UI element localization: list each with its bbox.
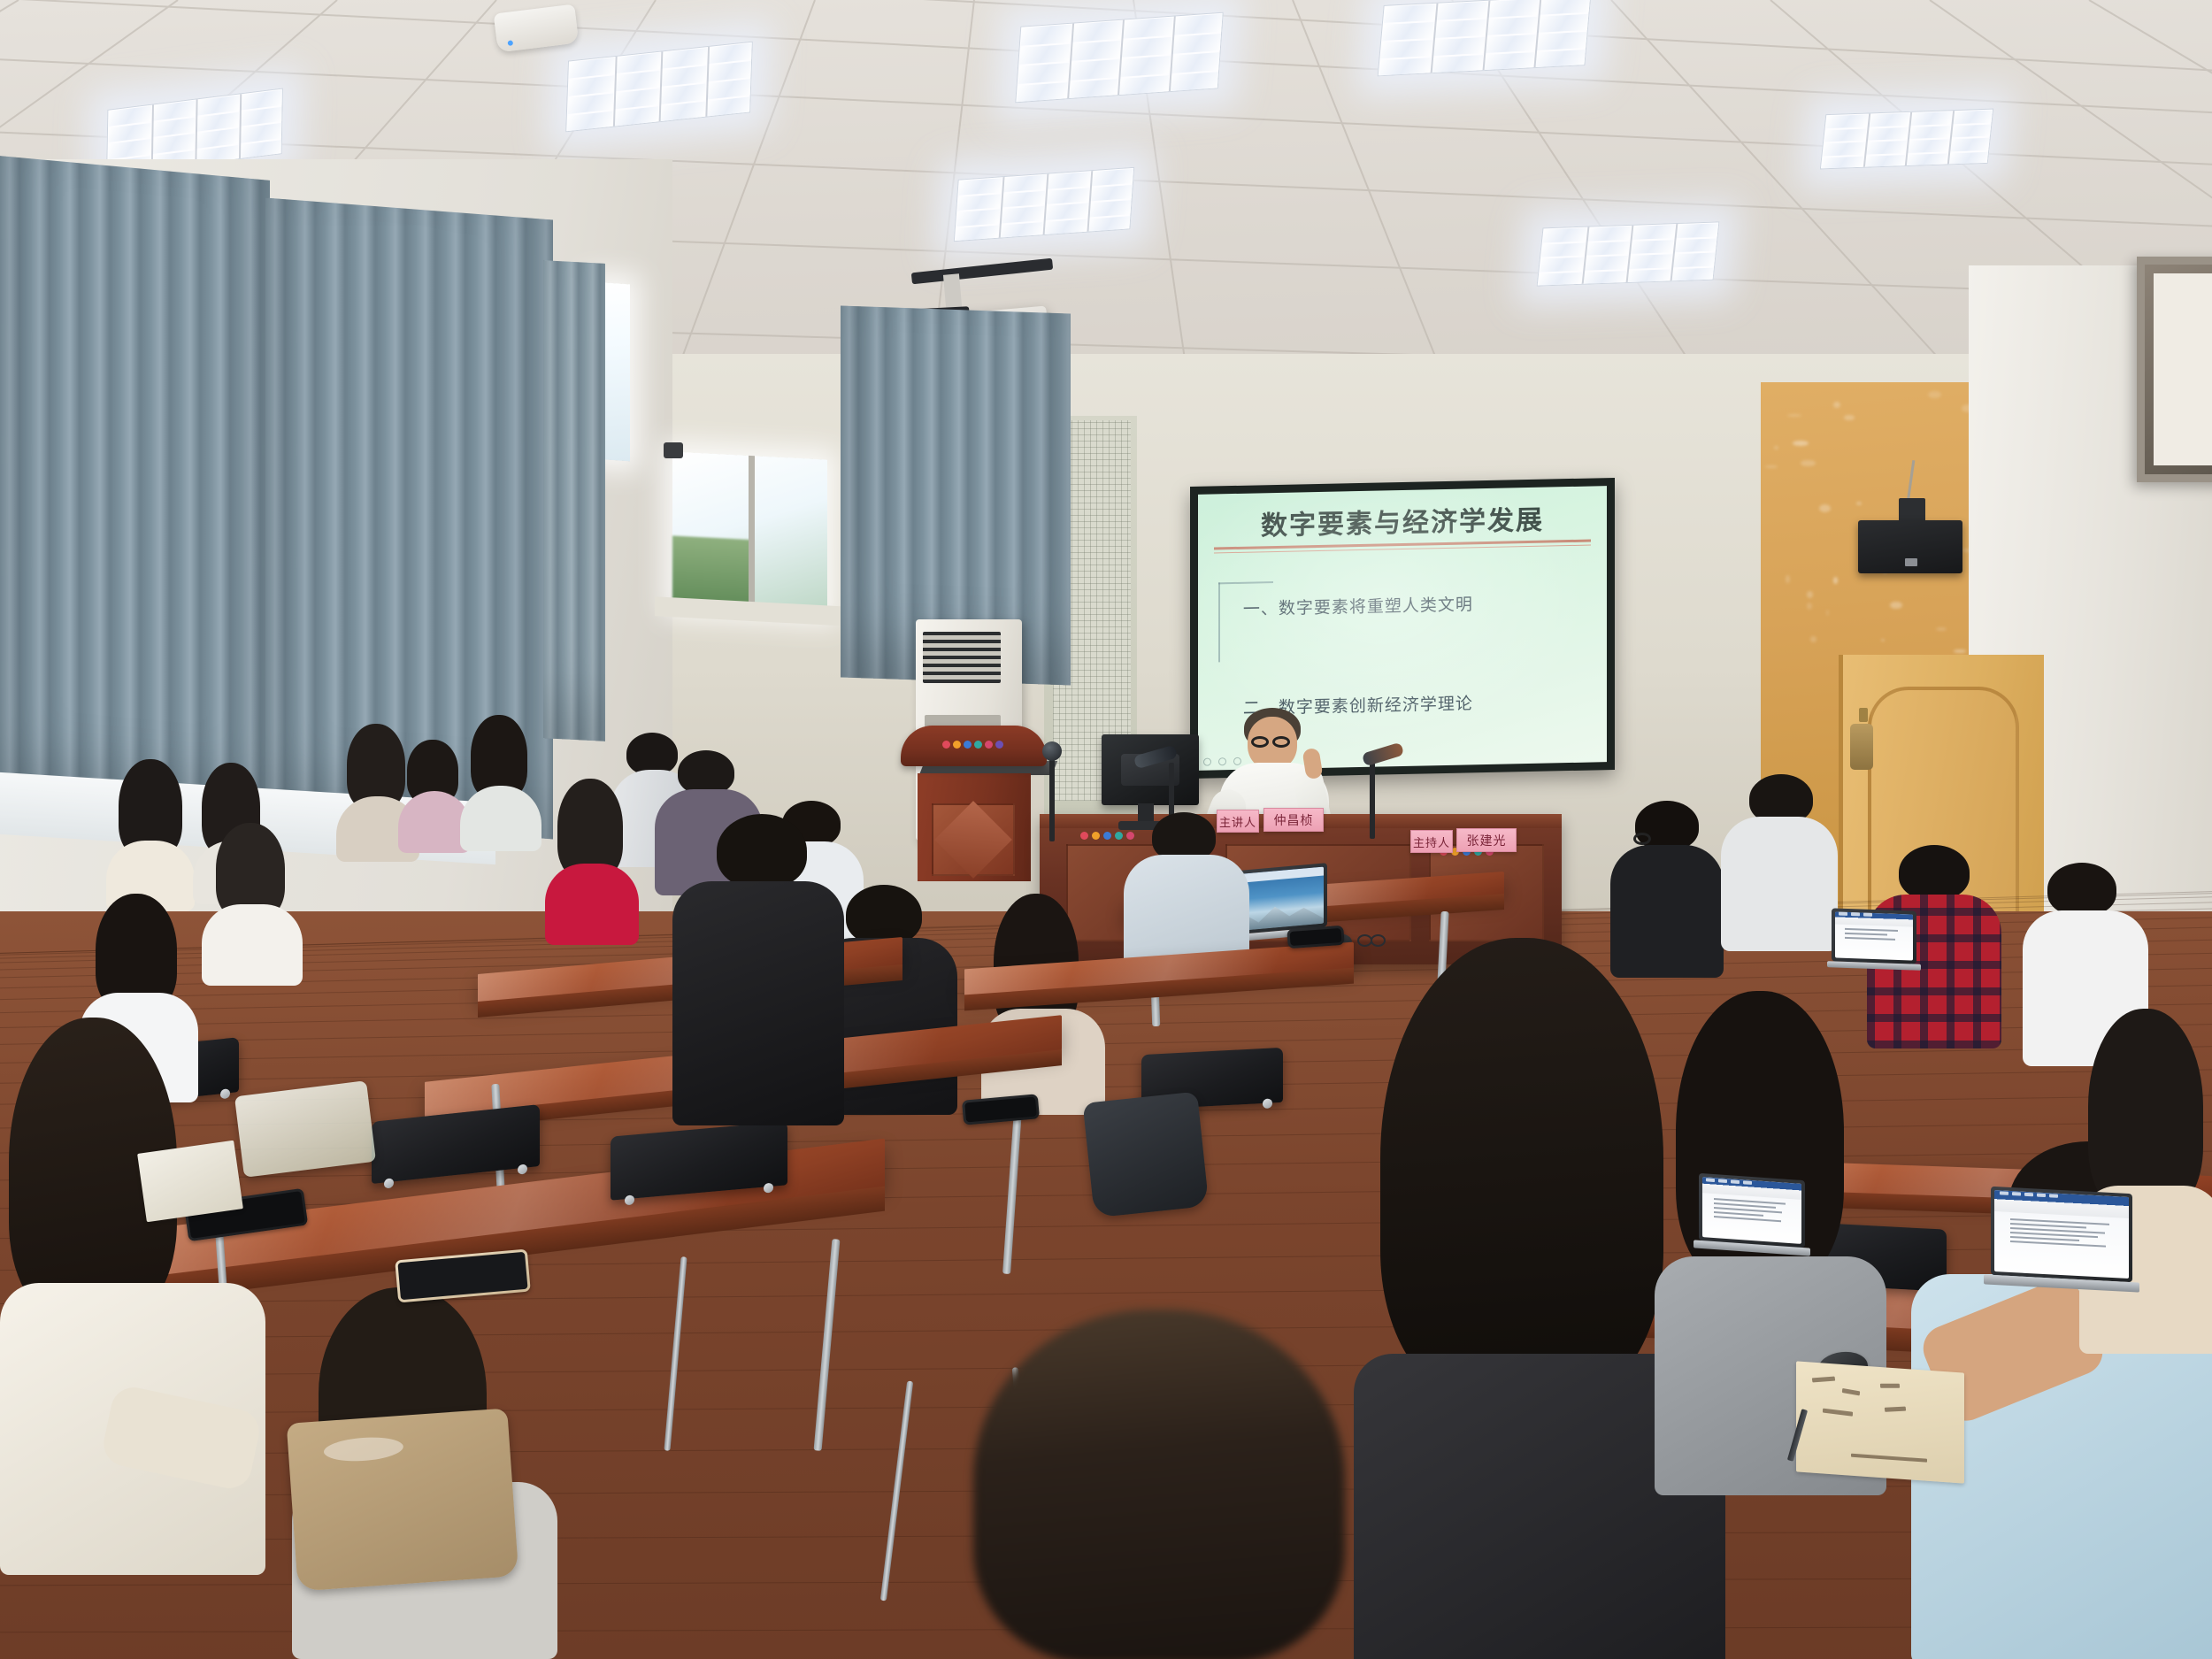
notebook xyxy=(137,1141,243,1223)
ceiling-light-3 xyxy=(1015,12,1223,104)
nameplate-name-1: 仲昌桢 xyxy=(1263,808,1324,832)
ceiling-light-4 xyxy=(1378,0,1592,76)
speaker-bracket xyxy=(1899,498,1925,522)
microphone-stand-right xyxy=(1370,763,1375,839)
audience-member-a3 xyxy=(202,823,299,982)
microphone-stand-podium xyxy=(1049,757,1055,841)
audience-member-a19 xyxy=(0,1018,265,1548)
audience-member-a20 xyxy=(2079,1009,2212,1345)
slide-title: 数字要素与经济学发展 xyxy=(1261,506,1544,541)
audience-member-a21 xyxy=(398,740,469,855)
curtain-left[interactable] xyxy=(0,156,270,826)
laptop-right-mid[interactable] xyxy=(1699,1173,1805,1248)
audience-member-a2 xyxy=(545,779,637,938)
audience-member-a13 xyxy=(1721,774,1836,951)
window-latch-icon[interactable] xyxy=(664,442,683,458)
ceiling-light-6 xyxy=(1537,221,1720,286)
ceiling-light-5 xyxy=(954,167,1134,242)
microphone-podium xyxy=(1042,741,1062,761)
audience-member-foreground xyxy=(973,1310,1345,1659)
audience-member-a8-front xyxy=(672,814,841,1124)
audience-member-a22 xyxy=(460,715,540,848)
phone-on-desk-3[interactable] xyxy=(1286,926,1344,949)
monitor xyxy=(1102,734,1199,805)
notepad xyxy=(1796,1361,1964,1483)
slide-bullet-1: 一、数字要素将重塑人类文明 xyxy=(1243,591,1473,619)
podium-logo xyxy=(942,741,1003,749)
classroom-scene: 数字要素与经济学发展 一、数字要素将重塑人类文明 二、数字要素创新经济学理论 xyxy=(0,0,2212,1659)
audience-member-a1 xyxy=(106,759,191,901)
handbag xyxy=(287,1409,519,1592)
window xyxy=(672,451,827,614)
podium xyxy=(901,726,1047,880)
laptop-right-far[interactable] xyxy=(1832,908,1916,964)
nameplate-role-2: 主持人 xyxy=(1410,830,1453,853)
wall-speaker-icon xyxy=(1858,520,1962,573)
plastic-bag xyxy=(234,1080,376,1178)
backpack xyxy=(1083,1092,1210,1218)
nameplate-name-2: 张建光 xyxy=(1456,828,1517,852)
curtain-edge[interactable] xyxy=(543,260,605,741)
door-handle-icon[interactable] xyxy=(1850,724,1873,770)
picture-frame xyxy=(2137,257,2212,482)
ceiling-light-8 xyxy=(1820,109,1993,170)
laptop-right-front[interactable] xyxy=(1991,1187,2132,1282)
